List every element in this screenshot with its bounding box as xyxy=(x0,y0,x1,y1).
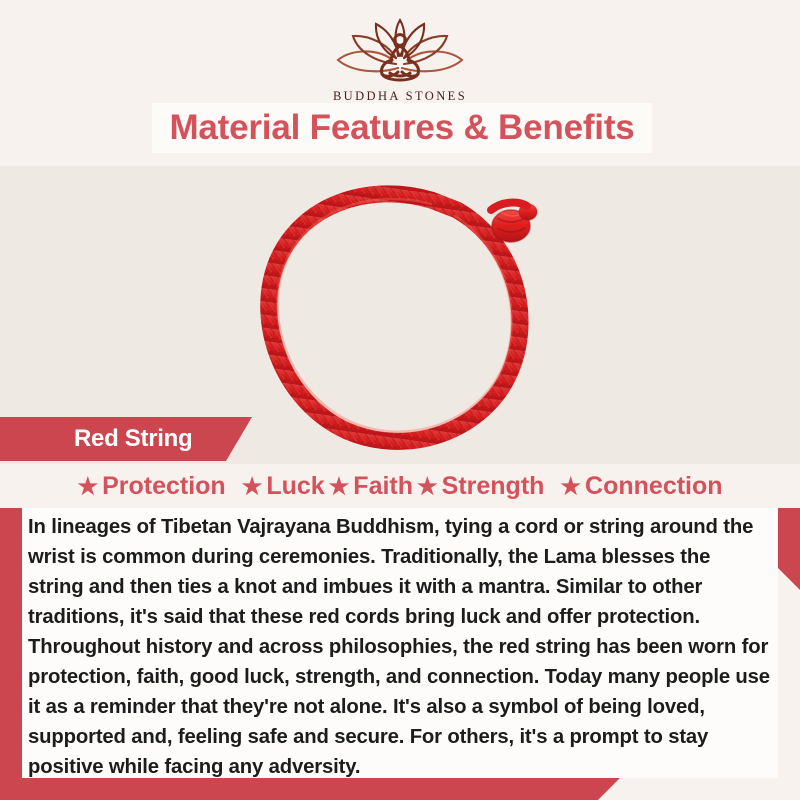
feature-item-connection: ★ Connection xyxy=(560,472,722,501)
description-panel: In lineages of Tibetan Vajrayana Buddhis… xyxy=(22,508,778,778)
brand-name: BUDDHA STONES xyxy=(0,89,800,104)
red-string-ribbon: Red String xyxy=(0,417,252,461)
feature-label: Protection xyxy=(102,472,226,501)
infographic-page: BUDDHA STONES Material Features & Benefi… xyxy=(0,0,800,800)
feature-item-luck: ★ Luck xyxy=(242,472,325,501)
feature-label: Connection xyxy=(585,472,723,501)
star-icon: ★ xyxy=(77,475,98,498)
feature-label: Faith xyxy=(353,472,413,501)
star-icon: ★ xyxy=(417,475,438,498)
title-banner: Material Features & Benefits xyxy=(152,103,652,153)
page-title: Material Features & Benefits xyxy=(169,108,634,148)
brand-logo: BUDDHA STONES xyxy=(0,14,800,104)
feature-item-protection: ★ Protection xyxy=(77,472,225,501)
feature-list: ★ Protection ★ Luck ★ Faith ★ Strength ★… xyxy=(0,464,800,508)
feature-item-faith: ★ Faith xyxy=(329,472,413,501)
lotus-meditation-icon xyxy=(326,14,474,88)
star-icon: ★ xyxy=(329,475,350,498)
description-text: In lineages of Tibetan Vajrayana Buddhis… xyxy=(22,508,778,782)
feature-label: Luck xyxy=(266,472,324,501)
star-icon: ★ xyxy=(560,475,581,498)
star-icon: ★ xyxy=(242,475,263,498)
red-braided-string-bracelet-image xyxy=(235,166,565,466)
bracelet-knot xyxy=(491,203,537,242)
ribbon-label: Red String xyxy=(74,425,192,453)
feature-label: Strength xyxy=(442,472,545,501)
feature-item-strength: ★ Strength xyxy=(417,472,544,501)
